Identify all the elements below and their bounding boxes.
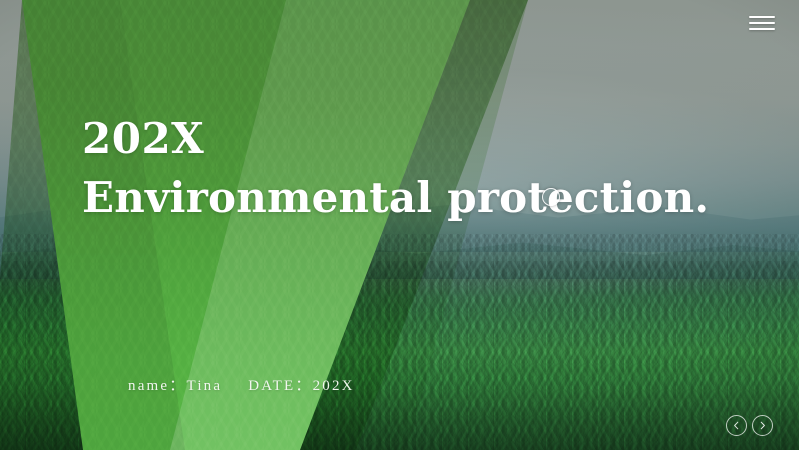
prev-slide-button[interactable] bbox=[726, 415, 747, 436]
chevron-left-icon bbox=[732, 421, 741, 430]
hamburger-line-top bbox=[749, 16, 775, 18]
hamburger-menu-icon[interactable] bbox=[749, 13, 775, 33]
year-label: 202X bbox=[82, 118, 709, 160]
hamburger-line-middle bbox=[749, 22, 775, 24]
next-slide-button[interactable] bbox=[752, 415, 773, 436]
slide-navigation bbox=[726, 415, 773, 436]
title-block: 202X Environmental protection. bbox=[82, 118, 709, 220]
slide-meta: name：Tina DATE：202X bbox=[128, 374, 355, 395]
chevron-right-icon bbox=[758, 421, 767, 430]
author-label: name：Tina bbox=[128, 374, 222, 395]
presentation-slide: 202X Environmental protection. name：Tina… bbox=[0, 0, 799, 450]
slide-content: 202X Environmental protection. name：Tina… bbox=[0, 0, 799, 450]
date-label: DATE：202X bbox=[248, 374, 354, 395]
hamburger-line-bottom bbox=[749, 28, 775, 30]
page-title: Environmental protection. bbox=[82, 176, 709, 220]
